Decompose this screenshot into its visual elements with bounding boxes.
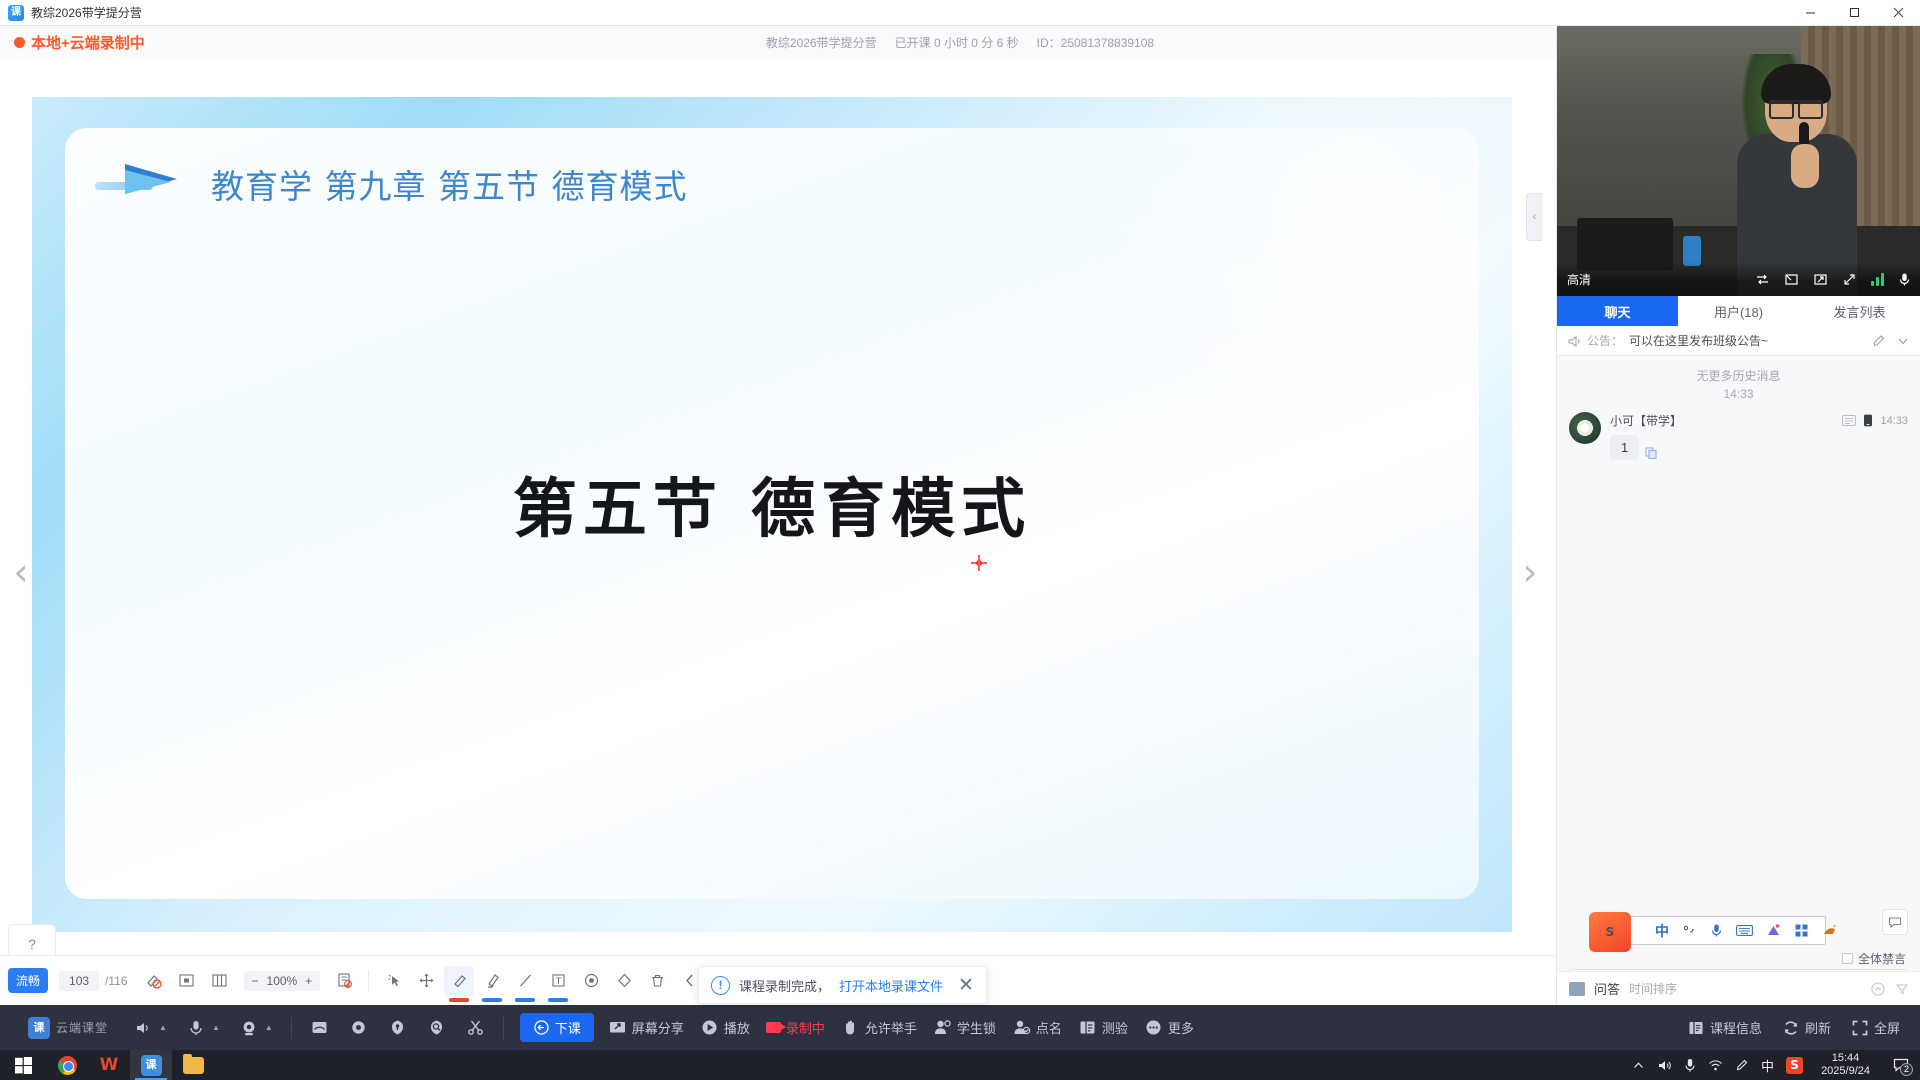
chat-message: 小可【带学】 14:33 1 bbox=[1557, 404, 1920, 460]
eraser-tool-icon[interactable] bbox=[609, 966, 639, 996]
tray-mic-icon[interactable] bbox=[1684, 1058, 1696, 1073]
end-class-button[interactable]: 下课 bbox=[520, 1013, 594, 1042]
allow-raise-hand-label: 允许举手 bbox=[865, 1018, 917, 1037]
play-label: 播放 bbox=[724, 1018, 750, 1037]
pip-icon[interactable] bbox=[1784, 272, 1799, 287]
ime-keyboard-icon[interactable] bbox=[1736, 924, 1753, 937]
fullscreen-button[interactable]: 全屏 bbox=[1843, 1013, 1908, 1042]
video-quality-label[interactable]: 高清 bbox=[1567, 271, 1591, 288]
info-icon: ! bbox=[711, 976, 730, 995]
message-time: 14:33 bbox=[1880, 415, 1908, 427]
avatar[interactable] bbox=[1569, 412, 1601, 444]
end-class-label: 下课 bbox=[555, 1018, 581, 1037]
course-name: 教综2026带学提分营 bbox=[766, 34, 877, 51]
message-meta: 14:33 bbox=[1842, 414, 1908, 427]
announcement-bar: 公告： 可以在这里发布班级公告~ bbox=[1557, 326, 1920, 356]
tray-chevron-up-icon[interactable] bbox=[1632, 1059, 1645, 1072]
roll-call-button[interactable]: 点名 bbox=[1004, 1013, 1070, 1042]
control-bar-right: 课程信息 刷新 全屏 bbox=[1679, 1013, 1908, 1042]
course-info-button[interactable]: 课程信息 bbox=[1679, 1013, 1770, 1042]
mic-icon[interactable] bbox=[1898, 272, 1911, 287]
student-lock-label: 学生锁 bbox=[957, 1018, 996, 1037]
quiz-label: 测验 bbox=[1102, 1018, 1128, 1037]
more-label: 更多 bbox=[1168, 1018, 1194, 1037]
tab-speaker-list[interactable]: 发言列表 bbox=[1799, 296, 1920, 326]
elapsed-time: 已开课 0 小时 0 分 6 秒 bbox=[895, 34, 1019, 51]
toast-message: 课程录制完成， bbox=[739, 976, 830, 995]
time-divider: 14:33 bbox=[1557, 387, 1920, 401]
small-tools bbox=[302, 1013, 493, 1042]
tray-ime-mode[interactable]: 中 bbox=[1761, 1056, 1774, 1075]
next-slide-button[interactable]: › bbox=[1515, 548, 1545, 596]
shape-tool-icon[interactable] bbox=[576, 966, 606, 996]
lock-icon[interactable] bbox=[380, 1013, 415, 1042]
panel-collapse-button[interactable]: ‹ bbox=[1526, 193, 1542, 241]
signal-icon bbox=[1871, 272, 1884, 286]
wps-icon: W bbox=[100, 1055, 119, 1075]
question-mark-icon: ? bbox=[28, 937, 36, 952]
recording-dot-icon bbox=[14, 37, 25, 48]
qa-filter-icon[interactable] bbox=[1895, 982, 1909, 996]
text-tool-icon[interactable]: T bbox=[543, 966, 573, 996]
whiteboard-stage: 教育学 第九章 第五节 德育模式 第五节 德育模式 ‹ › ‹ ? 常见 问题 bbox=[0, 58, 1556, 1005]
pen-color-indicator bbox=[449, 998, 469, 1002]
toast-close-icon[interactable]: ✕ bbox=[958, 974, 974, 997]
brand-label: 云端课堂 bbox=[56, 1019, 108, 1036]
slide-center-title: 第五节 德育模式 bbox=[65, 458, 1479, 550]
system-tray: 中 S 15:44 2025/9/24 2 bbox=[1632, 1050, 1920, 1080]
course-meta: 教综2026带学提分营 已开课 0 小时 0 分 6 秒 ID：25081378… bbox=[766, 34, 1154, 51]
app-icon: 课 bbox=[8, 5, 24, 21]
edit-announcement-icon[interactable] bbox=[1872, 334, 1886, 348]
line-tool-icon[interactable] bbox=[510, 966, 540, 996]
zoom-out-button[interactable]: − bbox=[252, 974, 259, 988]
no-more-history-label: 无更多历史消息 bbox=[1557, 367, 1920, 384]
scissors-icon[interactable] bbox=[458, 1013, 493, 1042]
tab-chat[interactable]: 聊天 bbox=[1557, 296, 1678, 326]
zoom-level-label: 100% bbox=[267, 974, 298, 988]
student-lock-button[interactable]: 学生锁 bbox=[925, 1013, 1004, 1042]
sogou-ime-toolbar[interactable]: S 中 bbox=[1614, 916, 1826, 945]
slide-header-title: 教育学 第九章 第五节 德育模式 bbox=[211, 160, 687, 208]
window-controls bbox=[1788, 0, 1920, 26]
ime-voice-icon[interactable] bbox=[1710, 923, 1723, 938]
application-window: 课 教综2026带学提分营 本地+云端录制中 教综2026带学提分营 已开课 0… bbox=[0, 0, 1920, 1080]
windows-taskbar: W 课 中 S 15:44 2025/9/24 bbox=[0, 1050, 1920, 1080]
fit-screen-icon[interactable] bbox=[172, 966, 202, 996]
window-title: 教综2026带学提分营 bbox=[31, 4, 142, 21]
ime-mode-label[interactable]: 中 bbox=[1655, 921, 1669, 941]
mute-all-checkbox[interactable] bbox=[1842, 953, 1853, 964]
page-total-label: /116 bbox=[105, 974, 127, 988]
close-button[interactable] bbox=[1876, 0, 1920, 26]
screen-share-label: 屏幕分享 bbox=[632, 1018, 684, 1037]
trash-tool-icon[interactable] bbox=[642, 966, 672, 996]
record-icon bbox=[766, 1022, 781, 1033]
teacher-video-preview[interactable]: 高清 bbox=[1557, 26, 1920, 296]
fullscreen-label: 全屏 bbox=[1874, 1018, 1900, 1037]
speaker-button[interactable]: ▲ bbox=[126, 1014, 175, 1042]
class-control-bar: 课 云端课堂 ▲ ▲ ▲ bbox=[0, 1005, 1920, 1050]
laser-pointer-tool-icon[interactable] bbox=[378, 966, 408, 996]
qa-right-actions bbox=[1871, 982, 1909, 996]
toolbar-divider bbox=[368, 970, 369, 992]
chat-message-list[interactable]: 无更多历史消息 14:33 小可【带学】 14:3 bbox=[1557, 356, 1920, 947]
slide-inner-card: 教育学 第九章 第五节 德育模式 第五节 德育模式 bbox=[65, 128, 1479, 899]
recording-label: 录制中 bbox=[786, 1018, 825, 1037]
taskbar-app-chrome[interactable] bbox=[46, 1050, 88, 1080]
tray-wifi-icon[interactable] bbox=[1708, 1059, 1723, 1072]
move-tool-icon[interactable] bbox=[411, 966, 441, 996]
speaker-dropdown-caret[interactable]: ▲ bbox=[159, 1023, 167, 1032]
device-controls: ▲ ▲ ▲ bbox=[126, 1014, 281, 1042]
zoom-control[interactable]: − 100% + bbox=[244, 971, 321, 991]
open-local-recording-link[interactable]: 打开本地录课文件 bbox=[839, 976, 943, 995]
text-color-indicator bbox=[548, 998, 568, 1002]
expand-icon[interactable] bbox=[1842, 272, 1857, 287]
control-divider-2 bbox=[503, 1017, 504, 1039]
folder-icon bbox=[183, 1057, 204, 1074]
right-panel: 高清 bbox=[1556, 26, 1920, 1005]
highlighter-tool-icon[interactable] bbox=[477, 966, 507, 996]
recording-button[interactable]: 录制中 bbox=[758, 1013, 833, 1042]
collapse-up-icon[interactable] bbox=[1871, 982, 1885, 996]
course-info-label: 课程信息 bbox=[1710, 1018, 1762, 1037]
control-divider-1 bbox=[291, 1017, 292, 1039]
announcement-label: 公告： bbox=[1587, 332, 1623, 349]
notes-disabled-icon[interactable] bbox=[329, 966, 359, 996]
slide-header: 教育学 第九章 第五节 德育模式 bbox=[95, 156, 687, 212]
settings-gear-icon[interactable] bbox=[341, 1013, 376, 1042]
stream-quality-chip[interactable]: 流畅 bbox=[8, 968, 48, 993]
taskbar-app-classroom[interactable]: 课 bbox=[130, 1050, 172, 1080]
classroom-icon: 课 bbox=[141, 1055, 162, 1076]
qa-bar: 问答 时间排序 bbox=[1557, 971, 1920, 1005]
ime-skin-icon[interactable] bbox=[1822, 923, 1837, 938]
app-brand: 课 云端课堂 bbox=[28, 1017, 108, 1039]
magnify-icon[interactable] bbox=[419, 1013, 454, 1042]
allow-raise-hand-button[interactable]: 允许举手 bbox=[833, 1013, 925, 1042]
page-number-input[interactable]: 103 bbox=[59, 971, 99, 991]
video-controls-bar: 高清 bbox=[1557, 262, 1920, 296]
clock-date: 2025/9/24 bbox=[1821, 1065, 1870, 1078]
ime-apps-icon[interactable] bbox=[1794, 923, 1809, 938]
ime-punctuation-icon[interactable] bbox=[1682, 923, 1697, 938]
pen-tool-icon[interactable] bbox=[444, 966, 474, 996]
paper-plane-icon bbox=[95, 156, 195, 212]
device-label-icon bbox=[1842, 415, 1856, 426]
recording-complete-toast: ! 课程录制完成， 打开本地录课文件 ✕ bbox=[698, 966, 987, 1004]
room-id: ID：25081378839108 bbox=[1037, 34, 1154, 51]
window-titlebar: 课 教综2026带学提分营 bbox=[0, 0, 1920, 26]
camera-dropdown-caret[interactable]: ▲ bbox=[265, 1023, 273, 1032]
screen-share-button[interactable]: 屏幕分享 bbox=[600, 1013, 692, 1042]
recording-status-badge: 本地+云端录制中 bbox=[14, 32, 145, 53]
popout-icon[interactable] bbox=[1813, 272, 1828, 287]
microphone-dropdown-caret[interactable]: ▲ bbox=[212, 1023, 220, 1032]
laser-pointer-cursor bbox=[971, 555, 987, 571]
grid-view-icon[interactable] bbox=[205, 966, 235, 996]
tray-volume-icon[interactable] bbox=[1657, 1058, 1672, 1073]
recording-status-label: 本地+云端录制中 bbox=[31, 32, 145, 53]
tab-users[interactable]: 用户(18) bbox=[1678, 296, 1799, 326]
megaphone-icon bbox=[1567, 334, 1581, 348]
video-action-icons bbox=[1755, 272, 1911, 287]
line-color-indicator bbox=[515, 998, 535, 1002]
quick-reply-fab[interactable] bbox=[1882, 909, 1908, 935]
tray-sogou-icon[interactable]: S bbox=[1786, 1057, 1803, 1074]
zoom-in-button[interactable]: + bbox=[305, 974, 312, 988]
refresh-label: 刷新 bbox=[1805, 1018, 1831, 1037]
qa-title[interactable]: 问答 bbox=[1594, 979, 1620, 998]
qa-sort-label[interactable]: 时间排序 bbox=[1629, 980, 1677, 997]
notification-center-button[interactable]: 2 bbox=[1888, 1050, 1914, 1080]
mobile-device-icon bbox=[1863, 414, 1873, 427]
windows-start-icon[interactable] bbox=[0, 1050, 46, 1080]
announcement-text: 可以在这里发布班级公告~ bbox=[1629, 332, 1768, 349]
brand-icon: 课 bbox=[28, 1017, 50, 1039]
clock-time: 15:44 bbox=[1821, 1052, 1870, 1065]
taskbar-app-file-explorer[interactable] bbox=[172, 1050, 214, 1080]
sogou-logo-icon[interactable]: S bbox=[1589, 912, 1631, 952]
taskbar-clock[interactable]: 15:44 2025/9/24 bbox=[1815, 1052, 1876, 1078]
highlighter-color-indicator bbox=[482, 998, 502, 1002]
message-sender: 小可【带学】 bbox=[1610, 412, 1682, 429]
tray-pen-icon[interactable] bbox=[1735, 1058, 1749, 1072]
mute-all-label: 全体禁言 bbox=[1858, 950, 1906, 967]
prev-slide-button[interactable]: ‹ bbox=[6, 548, 36, 596]
microphone-button[interactable]: ▲ bbox=[179, 1014, 228, 1042]
qa-icon bbox=[1569, 982, 1585, 996]
quiz-button[interactable]: 测验 bbox=[1070, 1013, 1136, 1042]
copy-message-icon[interactable] bbox=[1644, 446, 1658, 460]
svg-text:T: T bbox=[555, 977, 562, 987]
whiteboard-icon[interactable] bbox=[302, 1013, 337, 1042]
taskbar-app-wps[interactable]: W bbox=[88, 1050, 130, 1080]
chevron-down-icon[interactable] bbox=[1896, 334, 1910, 348]
swap-stream-icon[interactable] bbox=[1755, 272, 1770, 287]
minimize-button[interactable] bbox=[1788, 0, 1832, 26]
pen-disabled-icon[interactable] bbox=[139, 966, 169, 996]
announcement-actions bbox=[1872, 334, 1910, 348]
refresh-button[interactable]: 刷新 bbox=[1774, 1013, 1839, 1042]
roll-call-label: 点名 bbox=[1036, 1018, 1062, 1037]
slide-canvas[interactable]: 教育学 第九章 第五节 德育模式 第五节 德育模式 bbox=[32, 97, 1512, 932]
maximize-button[interactable] bbox=[1832, 0, 1876, 26]
notification-badge: 2 bbox=[1900, 1063, 1913, 1076]
message-bubble: 1 bbox=[1610, 435, 1639, 460]
more-button[interactable]: 更多 bbox=[1136, 1013, 1202, 1042]
chrome-icon bbox=[58, 1056, 77, 1075]
camera-button[interactable]: ▲ bbox=[232, 1014, 281, 1042]
chat-tabs: 聊天 用户(18) 发言列表 bbox=[1557, 296, 1920, 326]
ime-toolbox-icon[interactable] bbox=[1766, 923, 1781, 938]
play-button[interactable]: 播放 bbox=[692, 1013, 758, 1042]
